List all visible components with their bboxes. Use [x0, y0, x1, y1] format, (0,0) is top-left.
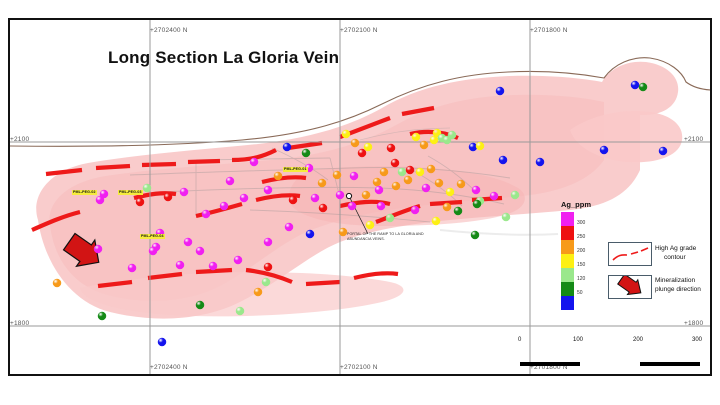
assay-point — [380, 168, 388, 176]
assay-point — [264, 263, 272, 271]
scale-tick: 100 — [573, 337, 583, 343]
colorbar-title: Ag_ppm — [561, 200, 591, 209]
assay-point — [496, 87, 504, 95]
legend-contour-line2: contour — [664, 254, 686, 263]
assay-point — [432, 217, 440, 225]
scale-tick: 0 — [518, 337, 521, 343]
assay-point — [202, 210, 210, 218]
assay-point — [358, 149, 366, 157]
assay-point — [274, 172, 282, 180]
assay-point — [398, 168, 406, 176]
colorbar-tick: 250 — [577, 234, 585, 240]
elev-label-left-2100: +2100 — [10, 136, 29, 143]
assay-point — [443, 136, 451, 144]
assay-point — [631, 81, 639, 89]
assay-point — [264, 238, 272, 246]
assay-point — [234, 256, 242, 264]
drill-hole-label: PML-PEG-04 — [140, 234, 165, 239]
assay-point — [411, 206, 419, 214]
assay-point — [196, 247, 204, 255]
assay-point — [502, 213, 510, 221]
assay-point — [416, 168, 424, 176]
assay-point — [406, 166, 414, 174]
legend-contour-line1: High Ag grade — [655, 245, 696, 252]
assay-point — [196, 301, 204, 309]
assay-point — [285, 223, 293, 231]
colorbar-segment — [561, 268, 574, 282]
assay-point — [339, 228, 347, 236]
scale-bar-segment-light — [580, 362, 640, 366]
elev-label-left-1800: +1800 — [10, 320, 29, 327]
assay-point — [350, 172, 358, 180]
legend-plunge-label: Mineralization plunge direction — [655, 277, 719, 295]
assay-point — [511, 191, 519, 199]
assay-point — [422, 184, 430, 192]
assay-point — [240, 194, 248, 202]
assay-point — [366, 221, 374, 229]
scale-tick: 300 — [692, 337, 702, 343]
grid-label-top-1: +2702400 N — [150, 27, 188, 34]
assay-point — [333, 171, 341, 179]
assay-point — [306, 230, 314, 238]
assay-point — [430, 136, 438, 144]
legend-plunge-swatch — [608, 275, 652, 299]
elev-label-right-1800: +1800 — [684, 320, 703, 327]
legend-plunge-line1: Mineralization — [655, 277, 695, 284]
assay-point — [490, 192, 498, 200]
colorbar-tick: 200 — [577, 248, 585, 254]
assay-point — [264, 186, 272, 194]
portal-annotation: PORTAL OF THE RAMP TO LA GLORIA AND ABUN… — [347, 232, 433, 242]
assay-point — [302, 149, 310, 157]
scale-bar — [520, 348, 700, 370]
drill-hole-label: PML-PEG-03 — [118, 190, 143, 195]
dashed-contour-icon — [609, 243, 651, 265]
assay-point — [236, 307, 244, 315]
assay-point — [536, 158, 544, 166]
map-frame-border — [8, 18, 712, 376]
map-canvas — [10, 20, 710, 374]
colorbar-segment — [561, 240, 574, 254]
assay-point — [386, 214, 394, 222]
assay-point — [250, 158, 258, 166]
assay-point — [375, 186, 383, 194]
assay-point — [387, 144, 395, 152]
assay-point — [457, 180, 465, 188]
assay-point — [143, 184, 151, 192]
assay-point — [373, 178, 381, 186]
assay-point — [318, 179, 326, 187]
assay-point — [53, 279, 61, 287]
grid-label-top-3: +2701800 N — [530, 27, 568, 34]
assay-point — [319, 204, 327, 212]
grid-label-bottom-1: +2702400 N — [150, 364, 188, 371]
assay-point — [149, 247, 157, 255]
assay-point — [412, 133, 420, 141]
colorbar-segment — [561, 254, 574, 268]
assay-point — [164, 193, 172, 201]
assay-point — [100, 190, 108, 198]
grid-label-top-2: +2702100 N — [340, 27, 378, 34]
legend-plunge-line2: plunge direction — [655, 286, 701, 293]
assay-point — [336, 191, 344, 199]
legend-contour-label: High Ag grade contour — [655, 245, 717, 263]
assay-point — [469, 143, 477, 151]
assay-point — [443, 203, 451, 211]
assay-point — [184, 238, 192, 246]
assay-point — [473, 200, 481, 208]
assay-point — [476, 142, 484, 150]
assay-point — [311, 194, 319, 202]
assay-point — [427, 165, 435, 173]
assay-point — [220, 202, 228, 210]
assay-point — [176, 261, 184, 269]
legend-contour-swatch — [608, 242, 652, 266]
grid-label-bottom-2: +2702100 N — [340, 364, 378, 371]
colorbar-segment — [561, 226, 574, 240]
assay-point — [351, 139, 359, 147]
assay-point — [404, 176, 412, 184]
assay-point — [454, 207, 462, 215]
assay-point — [262, 278, 270, 286]
assay-point — [209, 262, 217, 270]
assay-point — [600, 146, 608, 154]
assay-point — [499, 156, 507, 164]
assay-point — [391, 159, 399, 167]
assay-point — [348, 202, 356, 210]
assay-point — [128, 264, 136, 272]
drill-hole-label: PML-PEG-01 — [283, 167, 308, 172]
assay-point — [289, 196, 297, 204]
assay-point — [435, 179, 443, 187]
long-section-map: N S — [0, 0, 720, 405]
plunge-arrow-icon — [609, 276, 651, 298]
assay-point — [639, 83, 647, 91]
ag-ppm-colorbar — [561, 212, 574, 310]
assay-point — [226, 177, 234, 185]
assay-point — [158, 338, 166, 346]
assay-point — [377, 202, 385, 210]
assay-point — [98, 312, 106, 320]
assay-point — [254, 288, 262, 296]
assay-point — [392, 182, 400, 190]
assay-point — [283, 143, 291, 151]
colorbar-tick: 50 — [577, 290, 583, 296]
colorbar-segment — [561, 282, 574, 296]
assay-point — [136, 198, 144, 206]
assay-point — [471, 231, 479, 239]
colorbar-tick: 300 — [577, 220, 585, 226]
assay-point — [446, 188, 454, 196]
colorbar-tick: 120 — [577, 276, 585, 282]
assay-point — [364, 143, 372, 151]
elev-label-right-2100: +2100 — [684, 136, 703, 143]
assay-point — [180, 188, 188, 196]
assay-point — [472, 186, 480, 194]
colorbar-segment — [561, 296, 574, 310]
scale-tick: 200 — [633, 337, 643, 343]
colorbar-tick: 150 — [577, 262, 585, 268]
assay-point — [94, 245, 102, 253]
drill-hole-label: PML-PEG-02 — [72, 190, 97, 195]
colorbar-segment — [561, 212, 574, 226]
assay-point — [342, 130, 350, 138]
assay-point — [420, 141, 428, 149]
page-title: Long Section La Gloria Vein — [108, 48, 339, 68]
assay-point — [362, 191, 370, 199]
assay-point — [659, 147, 667, 155]
